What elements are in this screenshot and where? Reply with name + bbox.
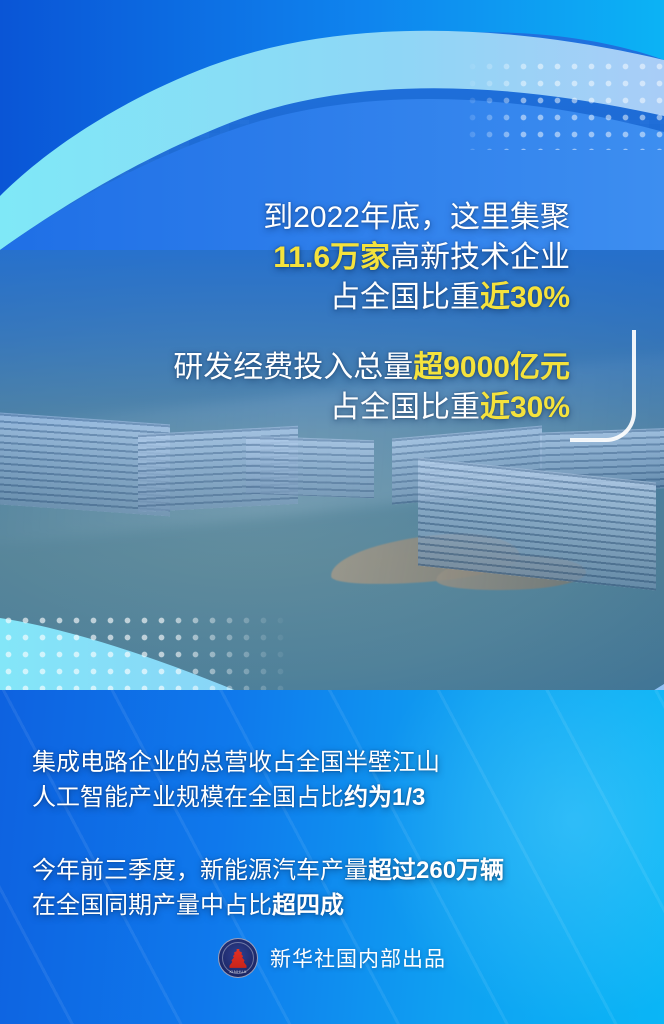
text-segment-bold: 超过260万辆 [368,857,504,884]
text-segment: 研发经费投入总量 [173,351,413,384]
stat-block-3: 集成电路企业的总营收占全国半壁江山 人工智能产业规模在全国占比约为1/3 [32,746,440,815]
stat-line: 占全国比重近30% [263,278,570,318]
stat-block-4: 今年前三季度，新能源汽车产量超过260万辆 在全国同期产量中占比超四成 [32,854,504,923]
xinhua-logo-icon: XINHUA [218,938,258,978]
stat-line: 11.6万家高新技术企业 [263,238,570,278]
text-segment: 人工智能产业规模在全国占比 [32,784,344,811]
dot-grid-top-right [464,58,664,150]
stat-block-2: 研发经费投入总量超9000亿元 占全国比重近30% [173,348,570,428]
stat-line: 今年前三季度，新能源汽车产量超过260万辆 [32,854,504,889]
text-segment: 到2022年底，这里集聚 [263,201,570,234]
footer-label: 新华社国内部出品 [270,943,446,973]
stat-line: 研发经费投入总量超9000亿元 [173,348,570,388]
text-segment-highlight: 近30% [480,391,570,424]
dot-grid-bottom-left [0,612,290,698]
text-segment: 占全国比重 [330,281,480,314]
logo-arc-text: XINHUA [219,969,257,974]
text-segment-highlight: 超9000亿元 [413,351,570,384]
text-segment: 占全国比重 [330,391,480,424]
bracket-line-decoration [570,330,636,442]
stat-line: 在全国同期产量中占比超四成 [32,889,504,924]
stat-line: 占全国比重近30% [173,388,570,428]
text-segment-bold: 约为1/3 [344,784,425,811]
footer: XINHUA 新华社国内部出品 [0,938,664,978]
text-segment-highlight: 近30% [480,281,570,314]
text-segment: 高新技术企业 [390,241,570,274]
text-segment: 集成电路企业的总营收占全国半壁江山 [32,749,440,776]
text-segment-highlight: 11.6万家 [273,241,390,274]
text-segment: 在全国同期产量中占比 [32,892,272,919]
infographic-poster: 到2022年底，这里集聚 11.6万家高新技术企业 占全国比重近30% 研发经费… [0,0,664,1024]
stat-line: 到2022年底，这里集聚 [263,198,570,238]
stat-line: 集成电路企业的总营收占全国半壁江山 [32,746,440,781]
text-segment: 今年前三季度，新能源汽车产量 [32,857,368,884]
stat-line: 人工智能产业规模在全国占比约为1/3 [32,781,440,816]
text-segment-bold: 超四成 [272,892,344,919]
stat-block-1: 到2022年底，这里集聚 11.6万家高新技术企业 占全国比重近30% [263,198,570,319]
